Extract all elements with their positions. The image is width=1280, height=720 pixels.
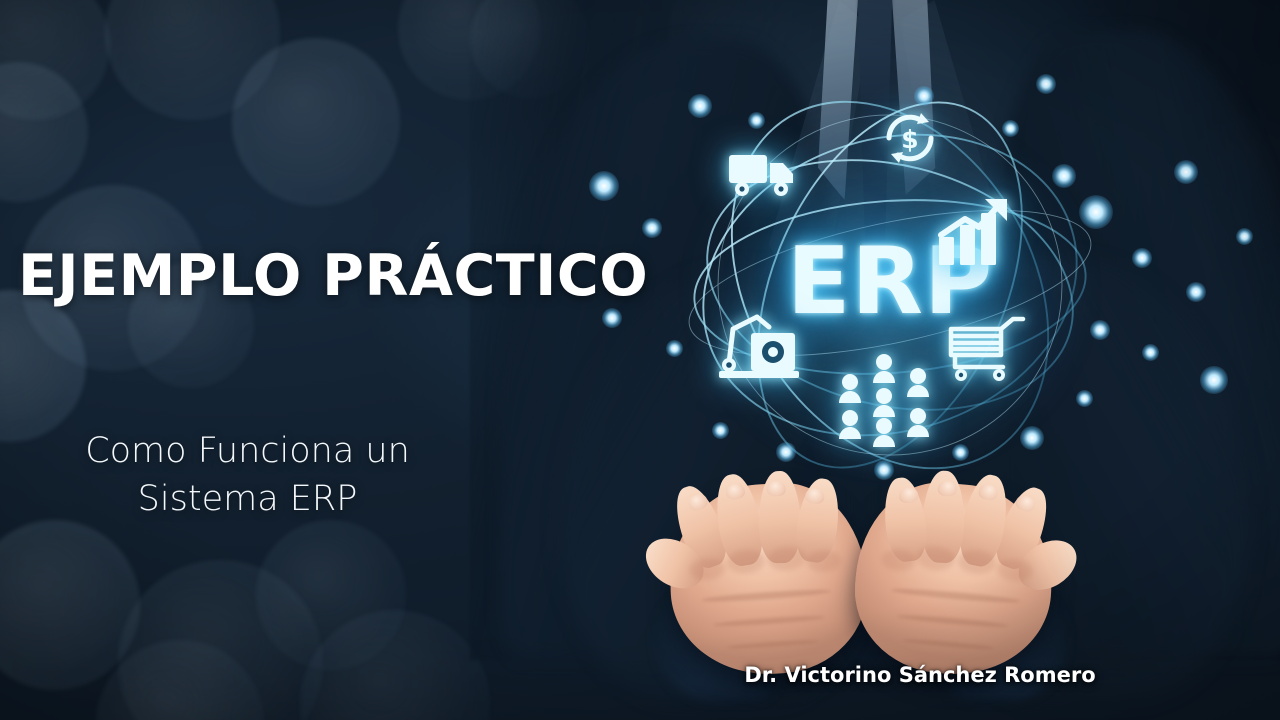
dress-shirt-collar-right bbox=[890, 0, 968, 195]
glow-particle bbox=[1002, 120, 1019, 137]
delivery-truck-icon bbox=[727, 147, 799, 203]
glow-particle bbox=[1174, 160, 1198, 184]
glow-particle bbox=[914, 86, 934, 106]
erp-hologram: ERP $ bbox=[655, 75, 1125, 495]
glow-particle bbox=[642, 218, 662, 238]
vignette-overlay bbox=[0, 0, 1280, 720]
glow-particle bbox=[666, 340, 683, 357]
glow-particle bbox=[1036, 74, 1056, 94]
glow-particle bbox=[688, 94, 712, 118]
glow-particle bbox=[1132, 248, 1152, 268]
bokeh-circle bbox=[232, 38, 400, 206]
bokeh-circle bbox=[118, 560, 323, 720]
bokeh-circle bbox=[300, 610, 490, 720]
glow-particle bbox=[1236, 228, 1253, 245]
bokeh-circle bbox=[616, 90, 738, 212]
bokeh-circle bbox=[470, 0, 588, 98]
bokeh-circle bbox=[668, 0, 808, 102]
glow-particle bbox=[1142, 344, 1159, 361]
robotic-arm-icon bbox=[717, 303, 801, 379]
suit-lapel-left bbox=[760, 0, 870, 330]
dress-shirt-collar-left bbox=[790, 0, 860, 200]
glow-particle bbox=[1079, 195, 1113, 229]
glow-particle bbox=[1186, 282, 1206, 302]
right-palm bbox=[848, 476, 1060, 682]
suit-shoulder-right bbox=[1000, 30, 1280, 660]
suit-lapel-right bbox=[900, 0, 1015, 330]
suit-arm-right bbox=[950, 260, 1250, 700]
bokeh-circle bbox=[256, 520, 406, 670]
glow-particle bbox=[1200, 366, 1227, 393]
glow-particle bbox=[1090, 320, 1110, 340]
svg-text:$: $ bbox=[901, 125, 918, 154]
suit-torso bbox=[470, 0, 1280, 660]
currency-cycle-icon: $ bbox=[877, 105, 943, 171]
bar-chart-growth-icon bbox=[935, 195, 1013, 269]
bokeh-circle bbox=[0, 62, 88, 202]
bokeh-circle bbox=[1108, 288, 1220, 400]
author-credit: Dr. Victorino Sánchez Romero bbox=[640, 663, 1200, 687]
bokeh-circle bbox=[0, 290, 86, 442]
glow-particle bbox=[602, 308, 622, 328]
hologram-glow bbox=[695, 115, 1085, 465]
glow-particle bbox=[776, 442, 796, 462]
glow-particle bbox=[1020, 426, 1044, 450]
slide-title: EJEMPLO PRÁCTICO bbox=[18, 243, 648, 309]
subtitle-line-1: Como Funciona un bbox=[20, 428, 475, 476]
bokeh-circle bbox=[398, 0, 540, 100]
glow-particle bbox=[874, 460, 894, 480]
glow-particle bbox=[1076, 390, 1093, 407]
bokeh-circle bbox=[0, 520, 140, 690]
slide-subtitle: Como Funciona un Sistema ERP bbox=[20, 428, 475, 523]
subtitle-line-2: Sistema ERP bbox=[20, 476, 475, 524]
left-palm bbox=[664, 477, 873, 680]
bokeh-circle bbox=[0, 0, 110, 120]
suit-shoulder-left bbox=[500, 40, 830, 660]
bokeh-circle bbox=[96, 640, 264, 720]
glow-particle bbox=[1052, 164, 1076, 188]
orbital-rings bbox=[655, 75, 1125, 495]
glow-particle bbox=[589, 171, 620, 202]
people-group-icon bbox=[831, 353, 949, 449]
bokeh-circle bbox=[105, 0, 280, 120]
glow-particle bbox=[952, 444, 969, 461]
necktie bbox=[838, 0, 912, 280]
suit-arm-left bbox=[560, 270, 860, 700]
presentation-slide: ERP $ bbox=[0, 0, 1280, 720]
glow-particle bbox=[748, 112, 765, 129]
glow-particle bbox=[712, 422, 729, 439]
bokeh-circle bbox=[1186, 118, 1280, 248]
shopping-cart-icon bbox=[947, 315, 1027, 385]
erp-hologram-label: ERP bbox=[765, 235, 1015, 328]
